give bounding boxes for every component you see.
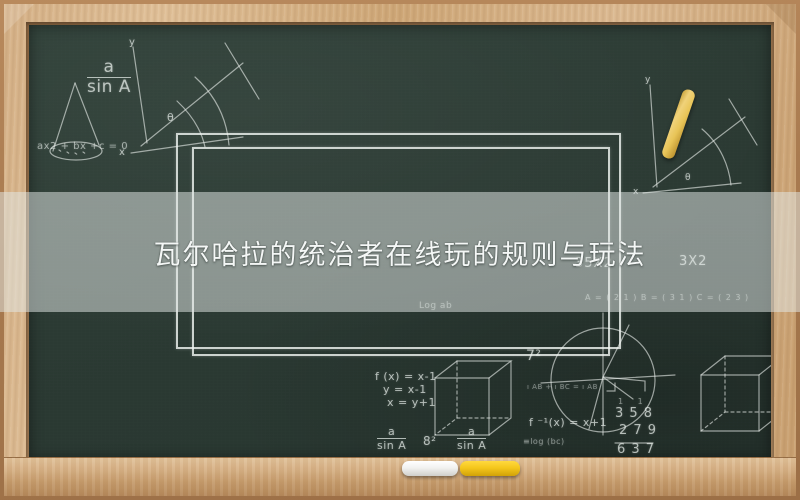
chalk-law-of-sines-left: a sin A (377, 426, 406, 451)
chalk-axis-x-top: x (119, 147, 125, 158)
yellow-chalk-stick-ledge (460, 461, 520, 476)
chalk-angle-theta-right: θ (685, 173, 691, 183)
chalk-axis-x-right: x (633, 187, 639, 197)
decor-rectangle-inner (192, 147, 610, 356)
chalk-axis-y-top: y (129, 37, 135, 48)
chalk-addition-operand-2: 2 7 9 (619, 423, 657, 438)
chalk-addition-result: 6 3 7 (617, 442, 655, 457)
chalk-quadratic: ax2 + bx +c = 0 (37, 141, 128, 152)
chalk-inverse-func: f ⁻¹(x) = x+1 (529, 416, 607, 429)
chalk-angle-theta-top: θ (167, 111, 174, 124)
chalk-power-eight: 8² (423, 434, 436, 448)
chalk-vector-sum: ı AB + ı BC = ı AB (527, 383, 598, 391)
chalk-func-1: f (x) = x-1 (375, 370, 437, 383)
chalk-func-2: y = x-1 (383, 383, 427, 396)
chalkboard-surface: a sin A ax2 + bx +c = 0 y x θ y x θ 35X2… (29, 25, 771, 459)
chalk-matrix-b: 3X2 (679, 254, 707, 269)
chalk-law-of-sines-top: a sin A (87, 59, 131, 97)
white-chalk-stick (402, 461, 458, 476)
cover-image: a sin A ax2 + bx +c = 0 y x θ y x θ 35X2… (0, 0, 800, 500)
chalk-ledge (4, 457, 796, 496)
chalk-log-bc: ≡log (bc) (523, 437, 565, 446)
chalk-axis-y-right: y (645, 75, 651, 85)
cube-figure-center (435, 361, 511, 435)
chalk-addition-carry: 1 1 (618, 397, 649, 406)
chalk-func-3: x = y+1 (387, 396, 436, 409)
chalk-law-of-sines-mid: a sin A (457, 426, 486, 451)
chalk-addition-operand-1: 3 5 8 (615, 406, 653, 421)
angle-figure-right (643, 85, 757, 193)
cube-figure-right (701, 356, 771, 431)
